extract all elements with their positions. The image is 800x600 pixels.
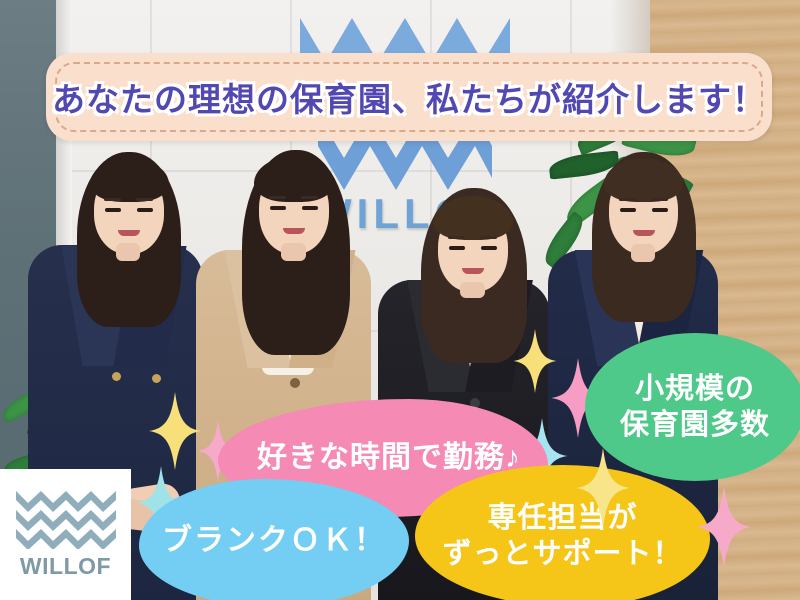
advertisement-image: WILLOF xyxy=(0,0,800,600)
bubble-blue-text: ブランクＯＫ！ xyxy=(162,522,386,564)
bubble-blue: ブランクＯＫ！ xyxy=(139,479,409,600)
bubble-yellow: 専任担当が ずっとサポート！ xyxy=(415,465,710,600)
sparkle-pink-right-icon xyxy=(696,486,752,568)
sparkle-yellow-left-icon xyxy=(148,392,202,470)
willof-wordmark: WILLOF xyxy=(20,553,111,580)
headline-banner: あなたの理想の保育園、私たちが紹介します！ xyxy=(46,53,772,141)
willof-logo-card: WILLOF xyxy=(0,469,131,600)
bubble-yellow-text: 専任担当が ずっとサポート！ xyxy=(442,500,682,573)
sparkle-yellow-right-icon xyxy=(576,448,630,528)
graphics-overlay: あなたの理想の保育園、私たちが紹介します！ 小規模の 保育園多数 好きな xyxy=(0,0,800,600)
bubble-green-text: 小規模の 保育園多数 xyxy=(620,371,770,444)
bubble-pink-text: 好きな時間で勤務♪ xyxy=(245,439,521,477)
headline-text: あなたの理想の保育園、私たちが紹介します！ xyxy=(46,53,772,141)
willof-mark-icon xyxy=(16,489,116,549)
